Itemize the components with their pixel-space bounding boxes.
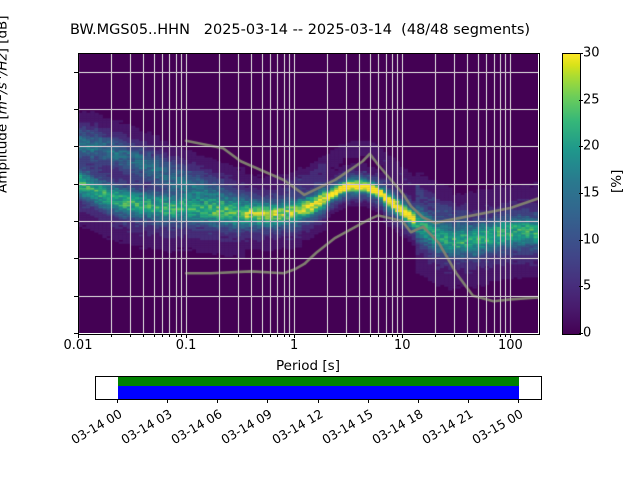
y-axis-label: Amplitude [m2/s4/Hz] [dB]	[0, 15, 11, 193]
coverage-tick-mark	[368, 399, 369, 403]
x-tick-mark	[467, 334, 468, 337]
colorbar-tick-mark	[579, 286, 583, 287]
grid-line-vertical	[510, 53, 511, 333]
x-tick-mark	[169, 334, 170, 337]
coverage-tick-mark	[468, 399, 469, 403]
x-tick-mark	[154, 334, 155, 337]
colorbar-tick-mark	[579, 240, 583, 241]
noise-model-curves	[78, 53, 538, 333]
grid-line-horizontal	[78, 146, 538, 147]
grid-line-vertical	[505, 53, 506, 333]
x-tick-mark	[262, 334, 263, 337]
x-tick-mark	[454, 334, 455, 337]
x-tick-label: 0.01	[64, 338, 93, 353]
x-tick-mark	[397, 334, 398, 337]
grid-line-vertical	[378, 53, 379, 333]
x-tick-label: 0.1	[176, 338, 197, 353]
grid-line-vertical	[494, 53, 495, 333]
x-tick-mark	[359, 334, 360, 337]
x-tick-mark	[143, 334, 144, 337]
colorbar-tick-label: 5	[583, 279, 591, 294]
coverage-tick-label: 03-14 09	[217, 406, 275, 448]
x-tick-mark	[505, 334, 506, 337]
grid-line-horizontal	[78, 72, 538, 73]
grid-line-vertical	[386, 53, 387, 333]
grid-line-vertical	[262, 53, 263, 333]
grid-line-horizontal	[78, 296, 538, 297]
x-tick-mark	[378, 334, 379, 337]
x-tick-mark	[270, 334, 271, 337]
grid-line-horizontal	[78, 184, 538, 185]
coverage-band-blue	[118, 386, 519, 399]
colorbar-tick-label: 0	[583, 326, 591, 341]
x-tick-mark	[289, 334, 290, 337]
grid-line-vertical	[346, 53, 347, 333]
figure-title: BW.MGS05..HHN 2025-03-14 -- 2025-03-14 (…	[0, 22, 600, 38]
colorbar-tick-label: 10	[583, 232, 600, 247]
x-tick-mark	[370, 334, 371, 337]
coverage-tick-mark	[318, 399, 319, 403]
grid-line-vertical	[78, 53, 79, 333]
x-tick-mark	[486, 334, 487, 337]
y-tick-mark	[74, 184, 78, 185]
coverage-tick-mark	[167, 399, 168, 403]
grid-line-vertical	[219, 53, 220, 333]
colorbar-tick-label: 30	[583, 46, 600, 61]
coverage-tick-mark	[117, 399, 118, 403]
x-tick-label: 10	[394, 338, 411, 353]
y-tick-mark	[74, 296, 78, 297]
x-tick-mark	[238, 334, 239, 337]
grid-line-vertical	[435, 53, 436, 333]
colorbar-tick-label: 20	[583, 139, 600, 154]
grid-line-vertical	[392, 53, 393, 333]
x-tick-mark	[346, 334, 347, 337]
colorbar-tick-mark	[579, 193, 583, 194]
colorbar-tick-mark	[579, 333, 583, 334]
x-tick-mark	[176, 334, 177, 337]
x-tick-mark	[277, 334, 278, 337]
grid-line-vertical	[397, 53, 398, 333]
coverage-tick-mark	[267, 399, 268, 403]
x-tick-mark	[386, 334, 387, 337]
coverage-tick-label: 03-14 12	[267, 406, 325, 448]
grid-line-vertical	[454, 53, 455, 333]
coverage-tick-label: 03-14 03	[117, 406, 175, 448]
x-tick-label: 100	[498, 338, 523, 353]
grid-line-vertical	[238, 53, 239, 333]
grid-line-vertical	[289, 53, 290, 333]
colorbar-tick-mark	[579, 53, 583, 54]
x-tick-mark	[435, 334, 436, 337]
grid-line-vertical	[402, 53, 403, 333]
y-tick-mark	[74, 109, 78, 110]
colorbar-tick-mark	[579, 146, 583, 147]
colorbar-tick-label: 25	[583, 92, 600, 107]
x-tick-label: 1	[290, 338, 298, 353]
ppsd-plot-area	[78, 53, 538, 333]
grid-line-vertical	[277, 53, 278, 333]
grid-line-vertical	[111, 53, 112, 333]
grid-line-vertical	[186, 53, 187, 333]
y-tick-mark	[74, 72, 78, 73]
colorbar-tick-label: 15	[583, 186, 600, 201]
grid-line-vertical	[270, 53, 271, 333]
x-tick-mark	[392, 334, 393, 337]
coverage-tick-label: 03-14 06	[167, 406, 225, 448]
grid-line-vertical	[162, 53, 163, 333]
grid-line-vertical	[370, 53, 371, 333]
coverage-tick-label: 03-14 21	[418, 406, 476, 448]
coverage-tick-mark	[217, 399, 218, 403]
coverage-tick-label: 03-15 00	[468, 406, 526, 448]
y-tick-mark	[74, 221, 78, 222]
grid-line-vertical	[359, 53, 360, 333]
grid-line-vertical	[486, 53, 487, 333]
x-tick-mark	[500, 334, 501, 337]
y-tick-mark	[74, 333, 78, 334]
colorbar-tick-mark	[579, 100, 583, 101]
x-tick-mark	[130, 334, 131, 337]
grid-line-vertical	[284, 53, 285, 333]
grid-line-vertical	[130, 53, 131, 333]
data-coverage-axes	[95, 376, 542, 400]
grid-line-vertical	[169, 53, 170, 333]
coverage-band-green	[118, 377, 519, 386]
x-axis-label: Period [s]	[78, 358, 538, 374]
grid-line-vertical	[500, 53, 501, 333]
y-tick-mark	[74, 146, 78, 147]
grid-line-vertical	[294, 53, 295, 333]
y-tick-mark	[74, 258, 78, 259]
x-tick-mark	[162, 334, 163, 337]
x-tick-mark	[478, 334, 479, 337]
grid-line-vertical	[154, 53, 155, 333]
grid-line-vertical	[176, 53, 177, 333]
grid-line-vertical	[181, 53, 182, 333]
grid-line-vertical	[478, 53, 479, 333]
grid-line-vertical	[467, 53, 468, 333]
x-tick-mark	[251, 334, 252, 337]
grid-line-vertical	[251, 53, 252, 333]
x-tick-mark	[494, 334, 495, 337]
coverage-tick-label: 03-14 00	[67, 406, 125, 448]
coverage-tick-label: 03-14 15	[317, 406, 375, 448]
coverage-tick-mark	[518, 399, 519, 403]
grid-line-horizontal	[78, 221, 538, 222]
x-tick-mark	[219, 334, 220, 337]
grid-line-vertical	[143, 53, 144, 333]
coverage-tick-mark	[418, 399, 419, 403]
x-tick-mark	[181, 334, 182, 337]
x-tick-mark	[111, 334, 112, 337]
grid-line-horizontal	[78, 258, 538, 259]
ppsd-figure: BW.MGS05..HHN 2025-03-14 -- 2025-03-14 (…	[0, 0, 640, 480]
colorbar-label: [%]	[609, 170, 625, 193]
colorbar	[562, 53, 581, 335]
x-tick-mark	[284, 334, 285, 337]
grid-line-vertical	[327, 53, 328, 333]
x-tick-mark	[327, 334, 328, 337]
grid-line-horizontal	[78, 109, 538, 110]
coverage-tick-label: 03-14 18	[368, 406, 426, 448]
